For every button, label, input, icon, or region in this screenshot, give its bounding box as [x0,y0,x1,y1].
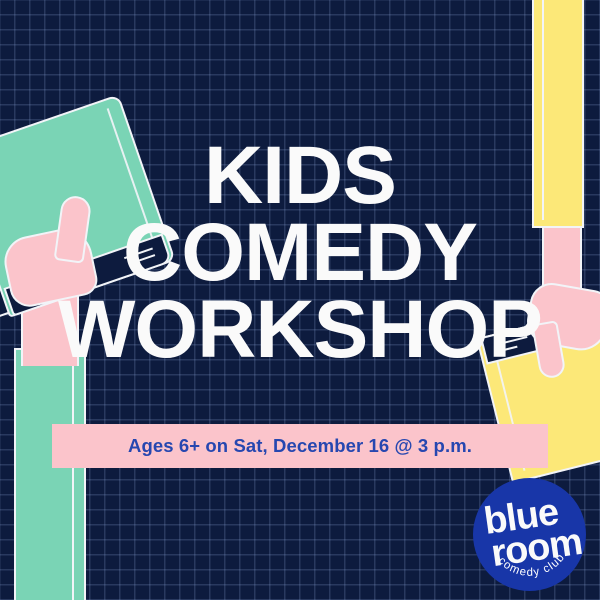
event-details-banner: Ages 6+ on Sat, December 16 @ 3 p.m. [52,424,548,468]
logo-tagline-arc: comedy club [473,478,586,591]
logo-tagline-text: comedy club [496,551,568,579]
right-sleeve [532,0,584,228]
event-details-text: Ages 6+ on Sat, December 16 @ 3 p.m. [128,435,472,457]
promo-poster: KIDS COMEDY WORKSHOP Ages 6+ on Sat, Dec… [0,0,600,600]
left-sleeve [14,348,86,600]
blue-room-logo: blue room comedy club [473,478,586,591]
